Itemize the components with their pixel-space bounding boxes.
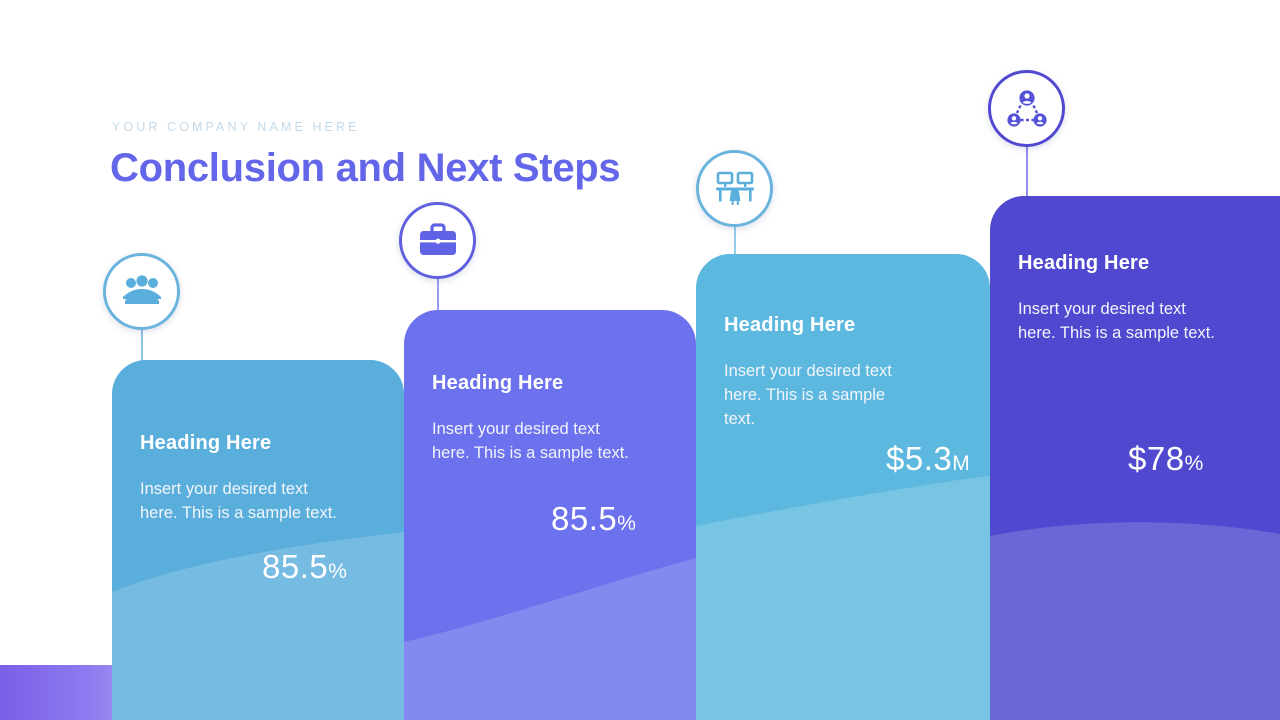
stat-card-3-extension <box>920 254 990 720</box>
icon-badge-4[interactable] <box>988 70 1065 147</box>
stat-value-3-unit: M <box>952 452 970 475</box>
card-2-body: Heading Here Insert your desired text he… <box>404 310 696 465</box>
slide-canvas: Heading Here Insert your desired text he… <box>0 0 1280 720</box>
stat-value-1: 85.5% <box>262 548 347 586</box>
stat-value-4: $78% <box>1128 440 1203 478</box>
stat-value-4-unit: % <box>1185 452 1204 475</box>
card-wave-decoration <box>920 460 990 720</box>
card-wave-decoration <box>990 460 1280 720</box>
card-wave-decoration <box>404 460 696 720</box>
stat-value-3: $5.3M <box>886 440 970 478</box>
stat-card-2[interactable]: Heading Here Insert your desired text he… <box>404 310 696 720</box>
stat-card-1[interactable]: Heading Here Insert your desired text he… <box>112 360 404 720</box>
stat-card-3[interactable]: Heading Here Insert your desired text he… <box>696 254 920 720</box>
card-3-body: Heading Here Insert your desired text he… <box>696 254 920 431</box>
card-3-text: Insert your desired text here. This is a… <box>724 359 892 431</box>
stat-value-3-main: $5.3 <box>886 440 952 477</box>
stat-value-2-unit: % <box>617 512 636 535</box>
briefcase-icon <box>417 223 459 259</box>
icon-badge-2[interactable] <box>399 202 476 279</box>
stat-value-2: 85.5% <box>551 500 636 538</box>
card-3-heading: Heading Here <box>724 314 892 337</box>
stat-value-2-main: 85.5 <box>551 500 617 537</box>
card-1-text: Insert your desired text here. This is a… <box>140 477 346 525</box>
card-4-heading: Heading Here <box>1018 252 1252 275</box>
card-wave-decoration <box>696 460 920 720</box>
card-4-body: Heading Here Insert your desired text he… <box>990 196 1280 345</box>
icon-badge-1[interactable] <box>103 253 180 330</box>
org-chart-icon <box>1006 89 1048 129</box>
page-title: Conclusion and Next Steps <box>110 146 620 191</box>
stat-value-1-unit: % <box>328 560 347 583</box>
card-1-heading: Heading Here <box>140 432 376 455</box>
company-name-eyebrow: YOUR COMPANY NAME HERE <box>112 120 360 134</box>
stat-value-1-main: 85.5 <box>262 548 328 585</box>
card-4-text: Insert your desired text here. This is a… <box>1018 297 1224 345</box>
icon-badge-3[interactable] <box>696 150 773 227</box>
card-2-text: Insert your desired text here. This is a… <box>432 417 638 465</box>
card-1-body: Heading Here Insert your desired text he… <box>112 360 404 525</box>
stat-value-4-main: $78 <box>1128 440 1185 477</box>
card-2-heading: Heading Here <box>432 372 668 395</box>
people-group-icon <box>121 275 163 309</box>
workstation-icon <box>714 170 756 208</box>
